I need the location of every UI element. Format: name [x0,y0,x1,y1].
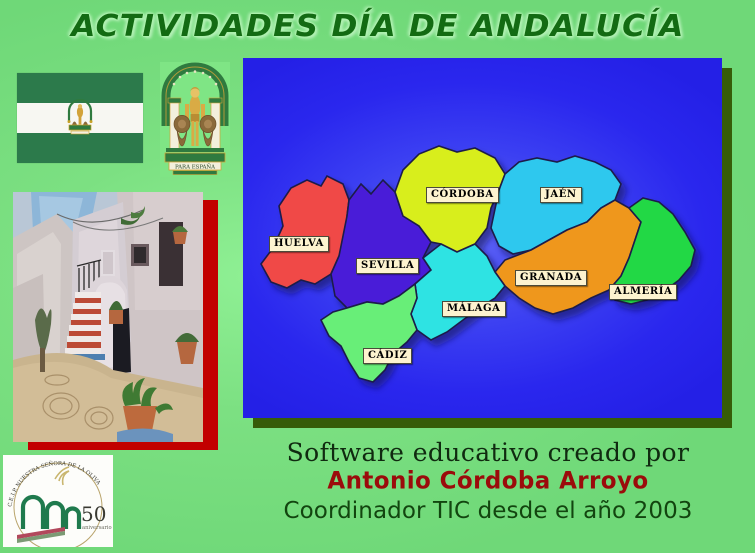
credit-line-software: Software educativo creado por [287,438,690,467]
credit-line-role: Coordinador TIC desde el año 2003 [283,498,692,524]
andalusian-street-painting [13,192,203,442]
footer-credits: Software educativo creado por Antonio Có… [243,432,733,550]
flag-emblem-icon [63,99,97,137]
province-label-jaen: JAÉN [540,187,582,203]
andalusia-flag [17,73,143,163]
page-title: ACTIVIDADES DÍA DE ANDALUCÍA [71,9,684,44]
province-label-cordoba: CÓRDOBA [426,187,499,203]
province-label-cadiz: CÁDIZ [363,348,412,364]
andalusia-coat-of-arms: PARA ESPAÑA [160,62,230,177]
app-background: ACTIVIDADES DÍA DE ANDALUCÍA [0,0,755,553]
province-label-granada: GRANADA [515,270,587,286]
school-logo-subtitle: aniversario [82,525,112,531]
coat-of-arms-icon: PARA ESPAÑA [160,62,230,177]
credit-line-author: Antonio Córdoba Arroyo [327,467,648,494]
school-logo-icon: C.E.I.P. NUESTRA SEÑORA DE LA OLIVA 50 a… [3,455,113,547]
province-malaga-shape [411,244,505,340]
flag-band-bottom [17,133,143,163]
coat-of-arms-banner-text: PARA ESPAÑA [175,162,215,170]
province-label-sevilla: SEVILLA [356,258,419,274]
page-title-container: ACTIVIDADES DÍA DE ANDALUCÍA [0,4,755,48]
province-label-malaga: MÁLAGA [442,301,506,317]
school-logo: C.E.I.P. NUESTRA SEÑORA DE LA OLIVA 50 a… [3,455,113,547]
school-logo-number: 50 [81,502,106,526]
andalusia-map-panel: HUELVA SEVILLA CÓRDOBA JAÉN GRANADA ALME… [243,58,722,418]
province-label-huelva: HUELVA [269,236,329,252]
province-label-almeria: ALMERÍA [609,284,677,300]
